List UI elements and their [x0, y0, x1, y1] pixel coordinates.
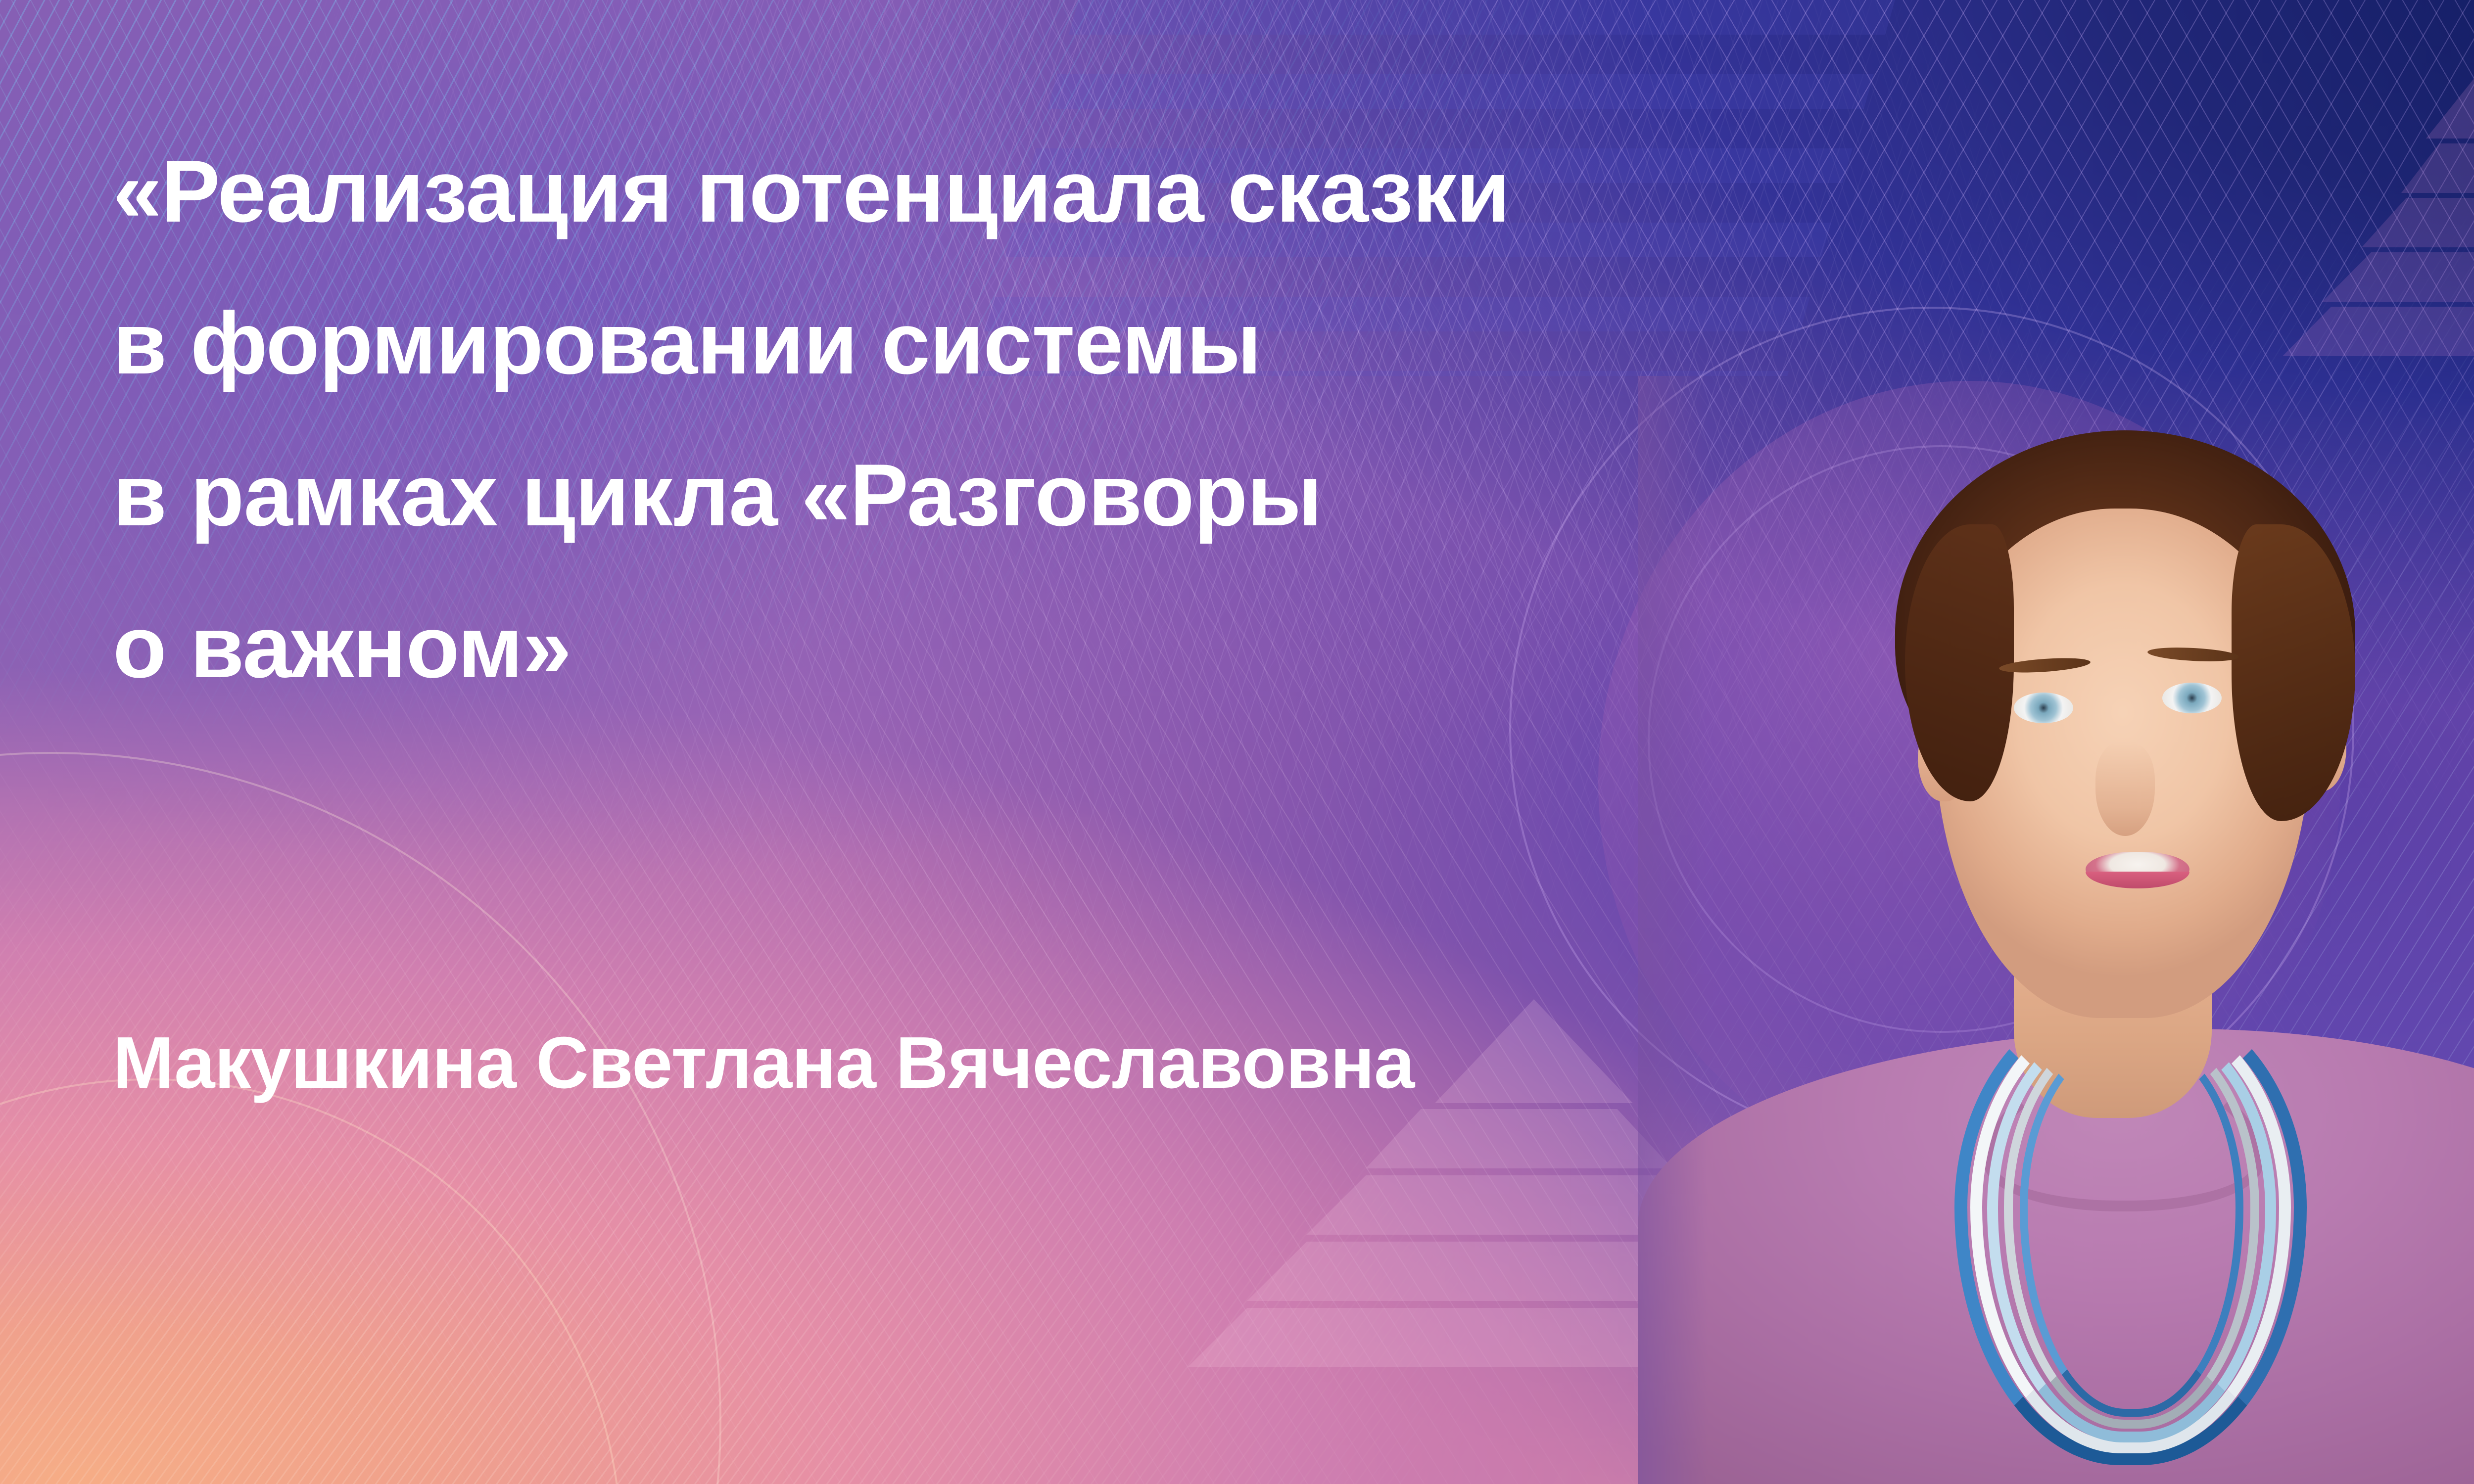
- title-slide: «Реализация потенциала сказки в формиров…: [0, 0, 2474, 1484]
- speaker-name: Макушкина Светлана Вячеславовна: [113, 1016, 1414, 1110]
- nose: [2095, 742, 2155, 836]
- necklace-strand-5: [2020, 1035, 2243, 1417]
- slide-title: «Реализация потенциала сказки в формиров…: [113, 115, 2265, 723]
